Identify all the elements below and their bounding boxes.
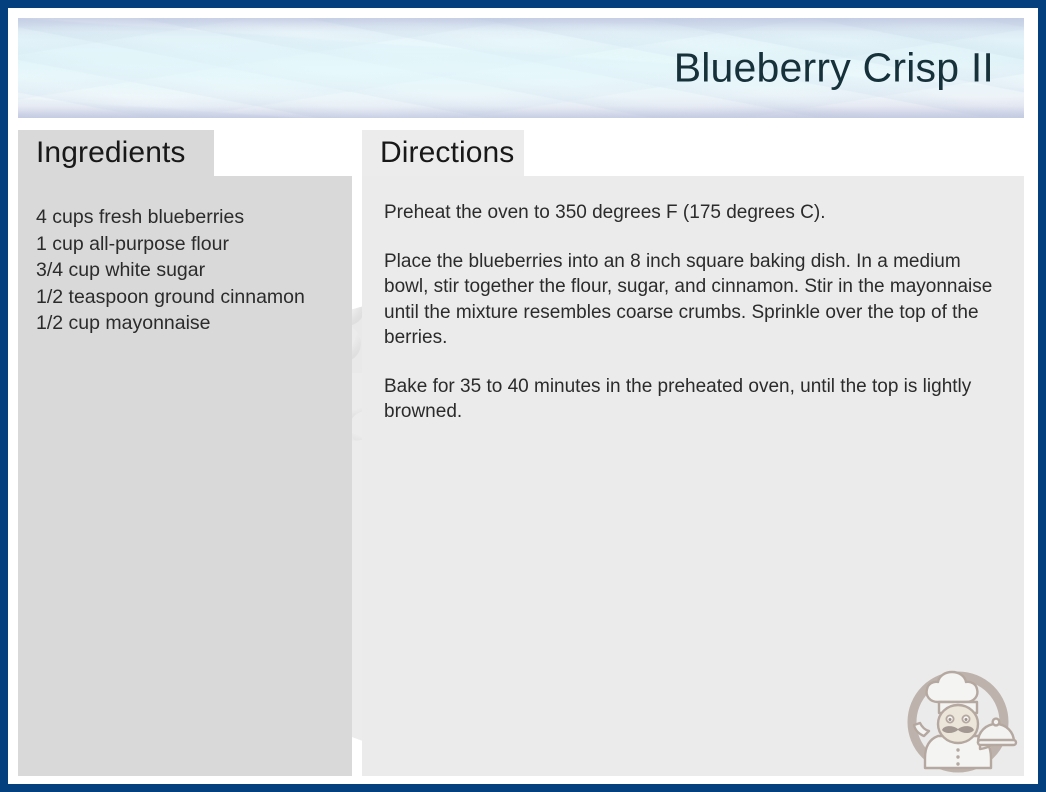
ingredient-item: 1/2 cup mayonnaise [36, 310, 336, 337]
ingredients-heading: Ingredients [18, 136, 204, 170]
ingredient-item: 1 cup all-purpose flour [36, 231, 336, 258]
ingredients-tab: Ingredients [18, 130, 214, 176]
recipe-card-frame: Blueberry Crisp II 4 cups fresh blueberr… [0, 0, 1046, 792]
ingredients-list: 4 cups fresh blueberries1 cup all-purpos… [18, 176, 352, 337]
content-panels: 4 cups fresh blueberries1 cup all-purpos… [18, 130, 1024, 776]
page-title: Blueberry Crisp II [674, 45, 994, 92]
ingredient-item: 1/2 teaspoon ground cinnamon [36, 284, 336, 311]
ingredient-item: 3/4 cup white sugar [36, 257, 336, 284]
ingredients-panel: 4 cups fresh blueberries1 cup all-purpos… [18, 130, 352, 776]
ingredient-item: 4 cups fresh blueberries [36, 204, 336, 231]
direction-step: Preheat the oven to 350 degrees F (175 d… [384, 200, 998, 226]
direction-step: Place the blueberries into an 8 inch squ… [384, 249, 998, 351]
title-banner: Blueberry Crisp II [18, 18, 1024, 118]
ingredients-panel-body: 4 cups fresh blueberries1 cup all-purpos… [18, 176, 352, 776]
directions-tab: Directions [362, 130, 524, 176]
directions-panel-body: Preheat the oven to 350 degrees F (175 d… [362, 176, 1024, 776]
directions-heading: Directions [362, 136, 532, 170]
directions-panel: Preheat the oven to 350 degrees F (175 d… [362, 130, 1024, 776]
recipe-card: Blueberry Crisp II 4 cups fresh blueberr… [8, 8, 1038, 784]
direction-step: Bake for 35 to 40 minutes in the preheat… [384, 374, 998, 425]
directions-text: Preheat the oven to 350 degrees F (175 d… [362, 176, 1024, 425]
